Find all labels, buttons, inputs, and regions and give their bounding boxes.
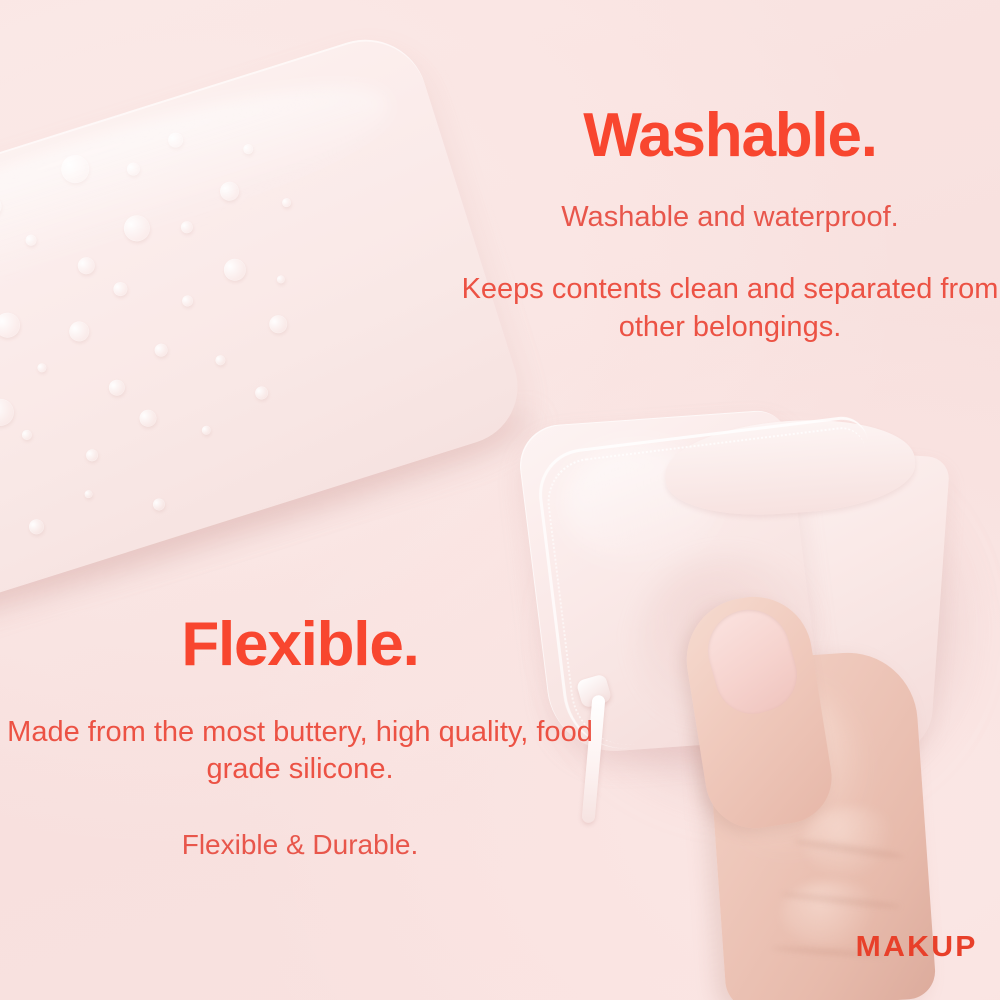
water-droplet <box>107 378 127 398</box>
water-droplet <box>0 310 23 341</box>
water-droplet <box>166 130 185 149</box>
water-droplet <box>200 425 211 436</box>
water-droplet <box>151 497 166 512</box>
water-droplet <box>153 342 169 358</box>
water-droplet <box>112 280 130 298</box>
brand-logo-text: MAKUP <box>856 933 978 962</box>
water-droplet <box>0 192 4 220</box>
flexible-headline: Flexible. <box>0 612 600 678</box>
water-droplet <box>125 161 141 177</box>
washable-headline: Washable. <box>460 103 1000 169</box>
product-feature-image: Washable. Washable and waterproof. Keeps… <box>0 0 1000 1000</box>
water-droplet <box>276 274 286 284</box>
hand-thumb <box>678 589 838 836</box>
water-droplet <box>221 256 249 284</box>
washable-lead-text: Washable and waterproof. <box>460 199 1000 236</box>
flexible-copy-block: Flexible. Made from the most buttery, hi… <box>0 612 600 863</box>
water-droplet <box>138 407 159 428</box>
water-droplet <box>281 197 292 208</box>
water-droplet <box>75 255 96 276</box>
water-droplet <box>58 152 93 187</box>
water-droplet <box>218 179 242 203</box>
brand-logo: MAKUP <box>858 933 975 962</box>
washable-body-text: Keeps contents clean and separated from … <box>460 271 1000 346</box>
water-droplet <box>214 354 227 367</box>
flexible-body-text: Made from the most buttery, high quality… <box>0 714 600 789</box>
water-droplet <box>85 447 100 462</box>
water-droplet <box>24 233 38 247</box>
water-droplet <box>36 362 47 373</box>
water-droplet <box>83 489 93 499</box>
water-droplet <box>28 517 47 536</box>
washable-copy-block: Washable. Washable and waterproof. Keeps… <box>460 103 1000 347</box>
water-droplet <box>267 313 290 336</box>
water-droplet <box>120 212 153 245</box>
thumb-nail <box>698 600 805 723</box>
water-droplet <box>0 396 17 430</box>
water-droplet <box>253 385 269 401</box>
water-droplet <box>21 429 34 442</box>
water-droplet <box>67 319 92 344</box>
flexible-tail-text: Flexible & Durable. <box>0 827 600 863</box>
water-droplet <box>181 294 195 308</box>
water-droplet <box>242 143 255 156</box>
water-droplet <box>179 220 194 235</box>
